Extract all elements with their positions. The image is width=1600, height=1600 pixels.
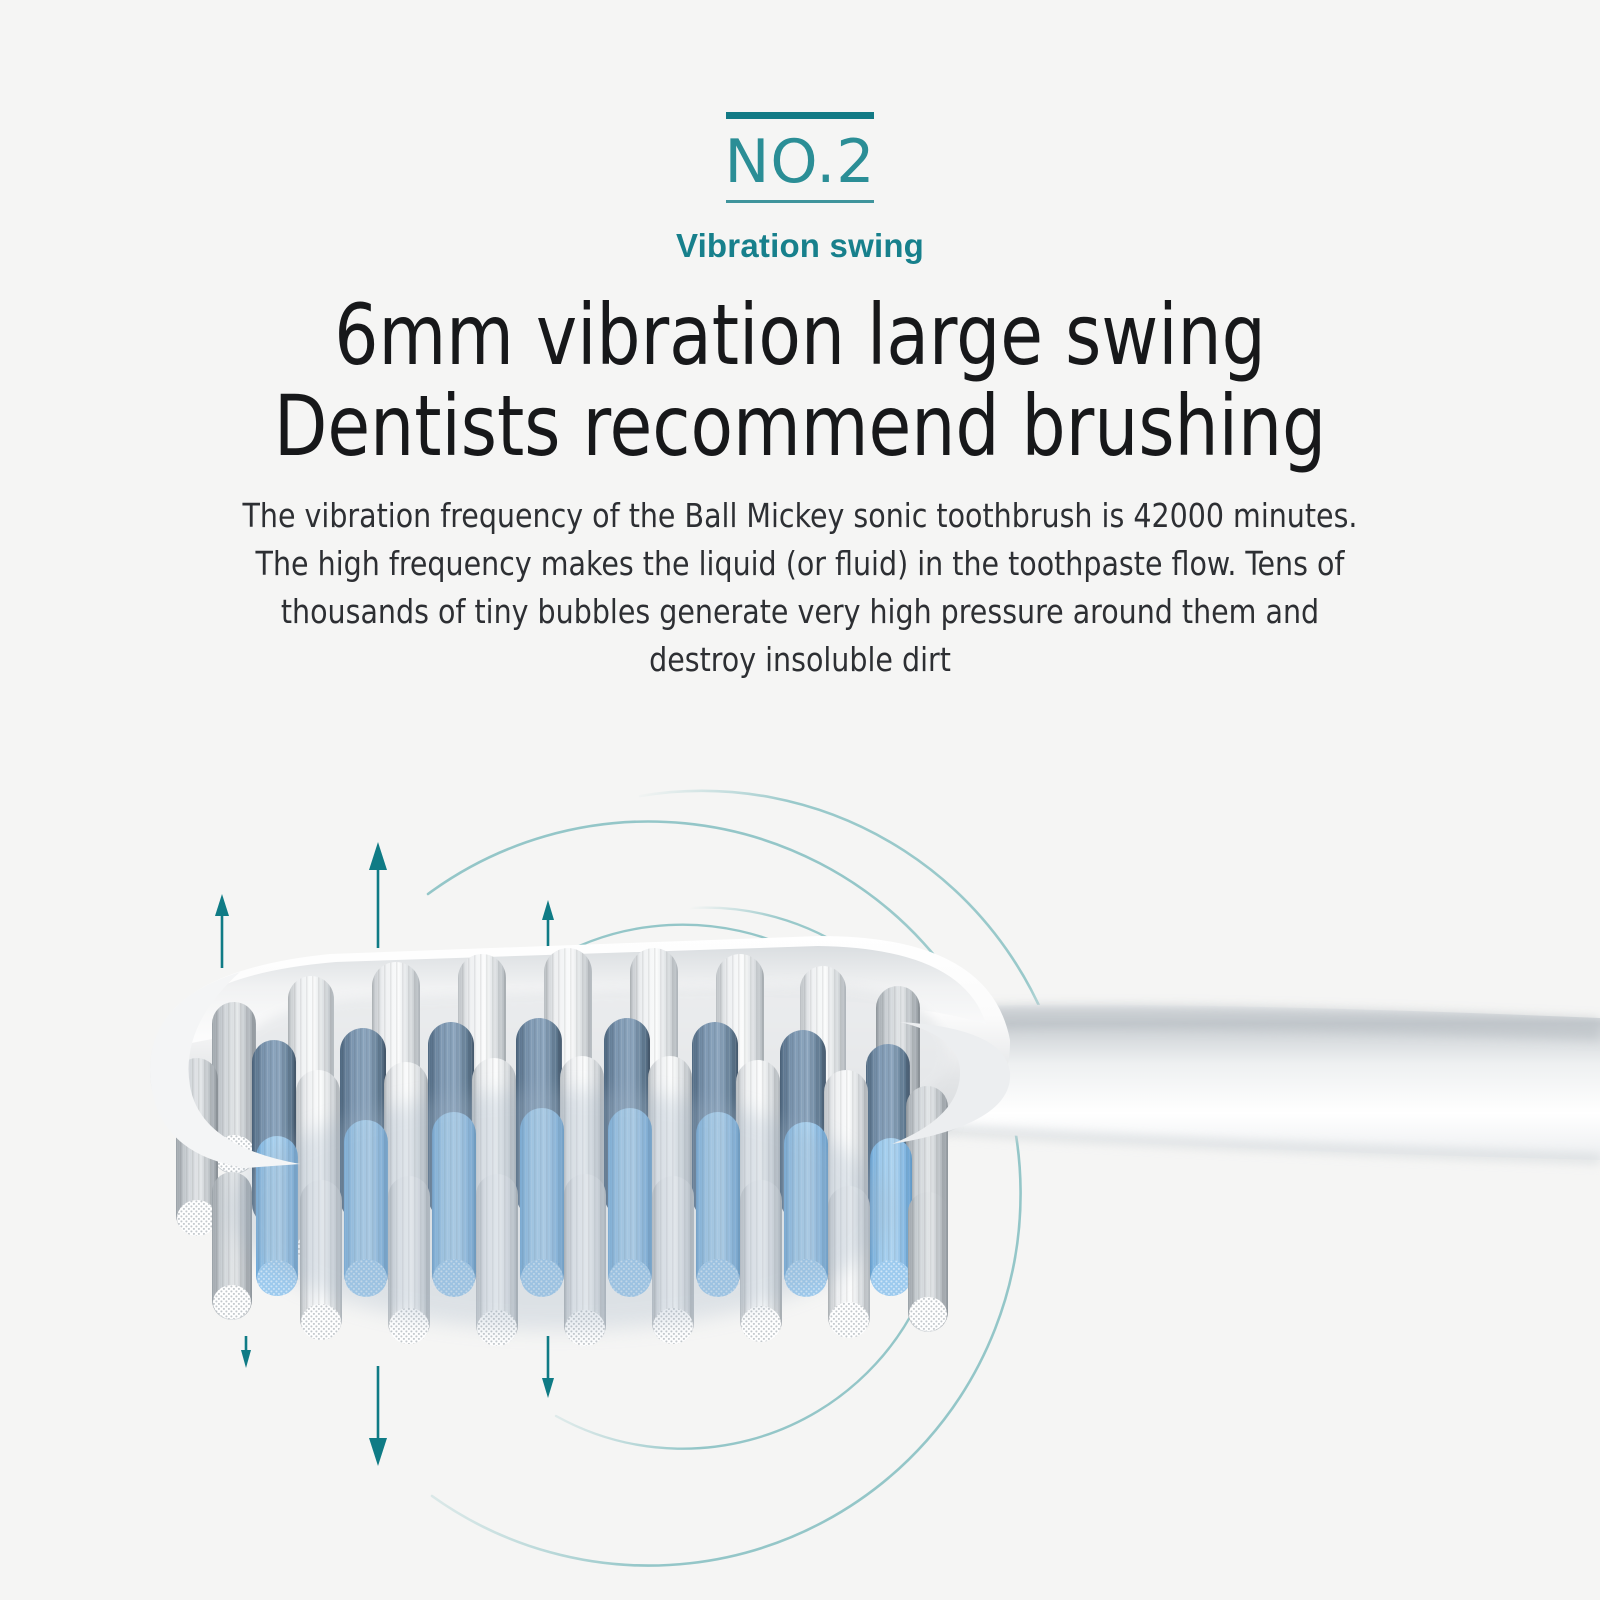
- product-illustration: [0, 740, 1600, 1600]
- thick-rule-icon: [726, 112, 874, 119]
- paragraph-line-3: thousands of tiny bubbles generate very …: [99, 588, 1501, 636]
- section-badge: NO.2 Vibration swing: [0, 112, 1600, 265]
- thin-rule-icon: [726, 200, 874, 203]
- paragraph-line-4: destroy insoluble dirt: [99, 636, 1501, 684]
- section-number: NO.2: [0, 131, 1600, 194]
- paragraph-line-2: The high frequency makes the liquid (or …: [99, 540, 1501, 588]
- paragraph-line-1: The vibration frequency of the Ball Mick…: [99, 492, 1501, 540]
- bristle-shading: [230, 1090, 890, 1330]
- headline-line-2: Dentists recommend brushing: [64, 381, 1536, 472]
- description-paragraph: The vibration frequency of the Ball Mick…: [99, 492, 1501, 683]
- bristle-tuft: [908, 1192, 948, 1332]
- section-subtitle: Vibration swing: [0, 227, 1600, 265]
- product-feature-page: NO.2 Vibration swing 6mm vibration large…: [0, 0, 1600, 1600]
- page-title: 6mm vibration large swing Dentists recom…: [64, 290, 1536, 471]
- headline-line-1: 6mm vibration large swing: [64, 290, 1536, 381]
